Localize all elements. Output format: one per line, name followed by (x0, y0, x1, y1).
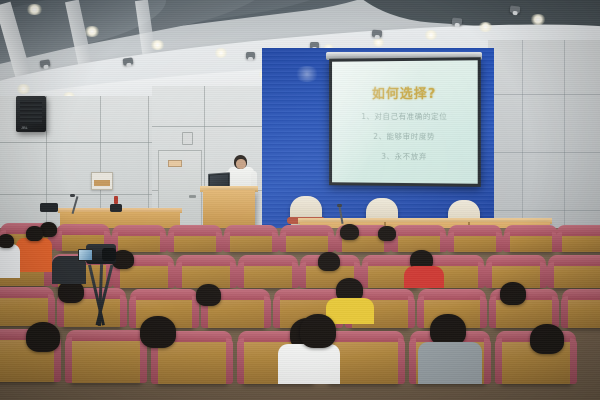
audience-torso-yellow (326, 298, 374, 324)
track-spotlight (40, 59, 51, 67)
downlight (530, 14, 546, 25)
audience-torso-white-left (0, 244, 20, 278)
wall-notice-sign (91, 172, 113, 190)
seat (172, 228, 218, 252)
lecture-hall-photo: JBL 如何选择? 1、对自己有准确的定位 2、能够审时度势 3、永不放弃 (0, 0, 600, 400)
seat (552, 258, 600, 288)
projection-screen-frame: 如何选择? 1、对自己有准确的定位 2、能够审时度势 3、永不放弃 (329, 57, 481, 187)
track-spotlight (510, 5, 521, 13)
audience-torso-orange (16, 238, 52, 272)
audience-head (26, 226, 43, 241)
audience-head (340, 224, 359, 240)
seat (396, 228, 442, 252)
seat (566, 292, 600, 328)
slide-bullet-3: 3、永不放弃 (332, 151, 478, 163)
track-spotlight (372, 30, 382, 38)
desk-equipment (40, 203, 58, 212)
desk-equipment (110, 204, 122, 212)
camera-lcd-screen (78, 249, 93, 261)
audience-head (26, 322, 60, 352)
seat (560, 228, 600, 252)
microphone-head (70, 194, 75, 197)
audience-head (140, 316, 176, 348)
downlight (214, 48, 228, 58)
presenter-face (236, 159, 246, 169)
audience-head-front (300, 314, 336, 348)
audience-head (318, 252, 340, 271)
seat (452, 228, 498, 252)
slide-title: 如何选择? (332, 83, 478, 103)
door-sign (168, 160, 182, 167)
audience-torso-grey (418, 342, 482, 384)
microphone-head (337, 204, 342, 207)
track-spotlight (123, 57, 134, 65)
downlight (26, 4, 43, 15)
seat (116, 228, 162, 252)
desk-item (114, 196, 118, 204)
slide-bullet-1: 1、对自己有准确的定位 (332, 111, 478, 122)
wall-switch-panel[interactable] (182, 132, 193, 145)
downlight (150, 40, 165, 50)
audience-head (378, 226, 396, 241)
speaker-brand-label: JBL (21, 125, 28, 130)
seat (508, 228, 554, 252)
track-spotlight (246, 52, 255, 59)
seat (242, 258, 294, 288)
downlight (372, 38, 385, 47)
track-spotlight (452, 18, 463, 26)
slide-bullet-2: 2、能够审时度势 (332, 131, 478, 142)
camera-lens (102, 248, 116, 261)
projection-screen: 如何选择? 1、对自己有准确的定位 2、能够审时度势 3、永不放弃 (332, 60, 478, 183)
downlight (16, 84, 31, 94)
audience-torso-white (278, 344, 340, 384)
seat (70, 333, 142, 383)
downlight (478, 22, 493, 32)
downlight (84, 26, 100, 37)
seat (284, 228, 330, 252)
audience-head (530, 324, 564, 354)
wall-mounted-speaker: JBL (16, 96, 46, 132)
seat (228, 228, 274, 252)
audience-head (500, 282, 526, 305)
audience-torso-red (404, 266, 444, 288)
downlight (424, 30, 438, 40)
audience-head (0, 234, 14, 248)
audience-head (196, 284, 221, 306)
video-camera-on-tripod[interactable] (82, 244, 118, 326)
